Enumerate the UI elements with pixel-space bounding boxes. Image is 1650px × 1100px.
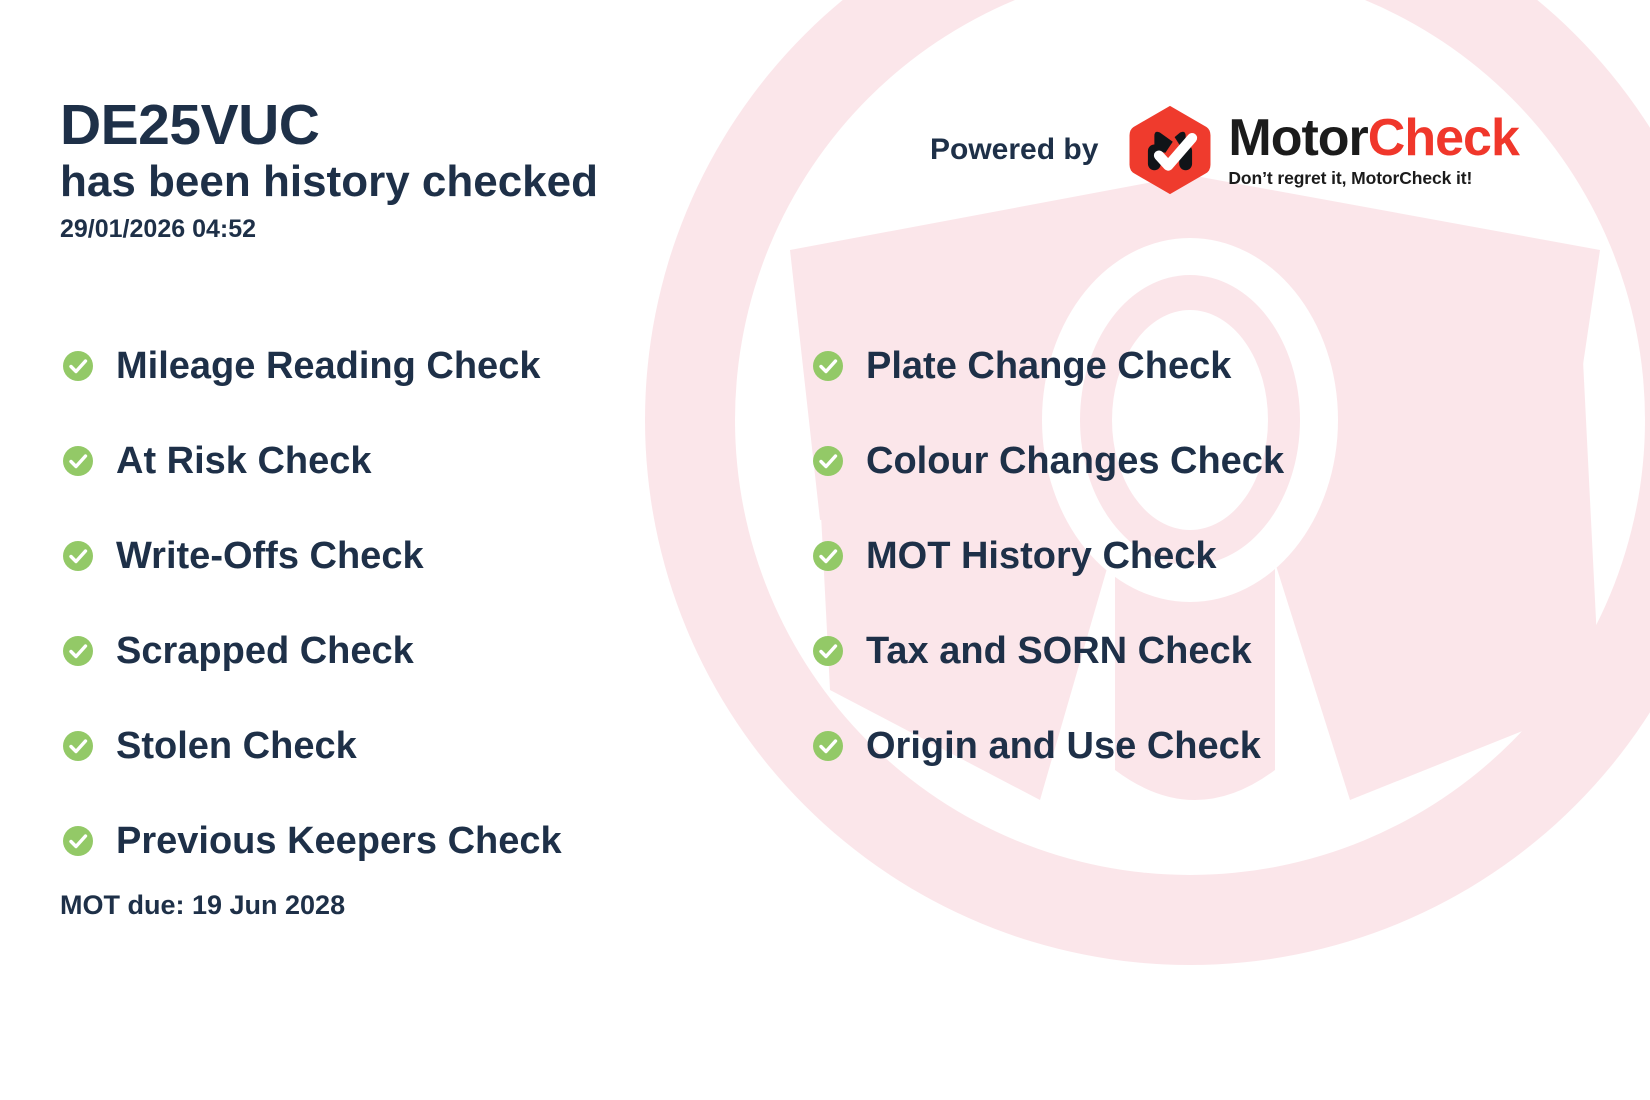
powered-by-label: Powered by bbox=[930, 133, 1098, 167]
check-circle-icon bbox=[812, 445, 844, 477]
card-content: DE25VUC has been history checked 29/01/2… bbox=[0, 0, 1650, 1100]
check-circle-icon bbox=[62, 350, 94, 382]
mot-due-date: MOT due: 19 Jun 2028 bbox=[60, 890, 345, 921]
check-item-label: Origin and Use Check bbox=[866, 727, 1261, 765]
vehicle-history-check-card: DE25VUC has been history checked 29/01/2… bbox=[0, 0, 1650, 1100]
check-item: Plate Change Check bbox=[812, 318, 1284, 413]
check-circle-icon bbox=[62, 540, 94, 572]
check-circle-icon bbox=[812, 350, 844, 382]
check-item-label: MOT History Check bbox=[866, 537, 1217, 575]
check-item-label: Previous Keepers Check bbox=[116, 822, 562, 860]
check-circle-icon bbox=[62, 730, 94, 762]
check-item: Write-Offs Check bbox=[62, 508, 562, 603]
check-circle-icon bbox=[62, 445, 94, 477]
brand-tagline: Don’t regret it, MotorCheck it! bbox=[1228, 168, 1518, 189]
header-block: DE25VUC has been history checked 29/01/2… bbox=[60, 96, 598, 244]
check-item: Origin and Use Check bbox=[812, 698, 1284, 793]
check-item: Stolen Check bbox=[62, 698, 562, 793]
check-circle-icon bbox=[62, 635, 94, 667]
check-timestamp: 29/01/2026 04:52 bbox=[60, 215, 598, 244]
check-item: Scrapped Check bbox=[62, 603, 562, 698]
check-item-label: Write-Offs Check bbox=[116, 537, 424, 575]
check-item: Previous Keepers Check bbox=[62, 793, 562, 888]
vehicle-registration-plate: DE25VUC bbox=[60, 96, 598, 154]
check-circle-icon bbox=[812, 540, 844, 572]
check-item-label: At Risk Check bbox=[116, 442, 372, 480]
check-item-label: Stolen Check bbox=[116, 727, 357, 765]
wordmark-motor: Motor bbox=[1228, 109, 1367, 167]
check-item-label: Colour Changes Check bbox=[866, 442, 1284, 480]
check-item-label: Tax and SORN Check bbox=[866, 632, 1252, 670]
check-item: MOT History Check bbox=[812, 508, 1284, 603]
motorcheck-hexagon-logo-icon bbox=[1124, 104, 1216, 196]
brand-lockup: Powered by MotorCheck Don’t regret it, M… bbox=[930, 104, 1519, 196]
check-item-label: Mileage Reading Check bbox=[116, 347, 540, 385]
check-circle-icon bbox=[812, 730, 844, 762]
check-item: Colour Changes Check bbox=[812, 413, 1284, 508]
wordmark-check: Check bbox=[1368, 109, 1519, 167]
check-item: Mileage Reading Check bbox=[62, 318, 562, 413]
check-item: Tax and SORN Check bbox=[812, 603, 1284, 698]
check-circle-icon bbox=[812, 635, 844, 667]
page-title: has been history checked bbox=[60, 158, 598, 206]
wordmark-text: MotorCheck bbox=[1228, 112, 1518, 164]
check-item-label: Scrapped Check bbox=[116, 632, 414, 670]
motorcheck-wordmark: MotorCheck Don’t regret it, MotorCheck i… bbox=[1228, 112, 1518, 189]
check-item: At Risk Check bbox=[62, 413, 562, 508]
motorcheck-logo[interactable]: MotorCheck Don’t regret it, MotorCheck i… bbox=[1124, 104, 1518, 196]
check-circle-icon bbox=[62, 825, 94, 857]
checks-column-left: Mileage Reading Check At Risk Check Writ… bbox=[62, 318, 562, 888]
checks-column-right: Plate Change Check Colour Changes Check … bbox=[812, 318, 1284, 793]
check-item-label: Plate Change Check bbox=[866, 347, 1231, 385]
